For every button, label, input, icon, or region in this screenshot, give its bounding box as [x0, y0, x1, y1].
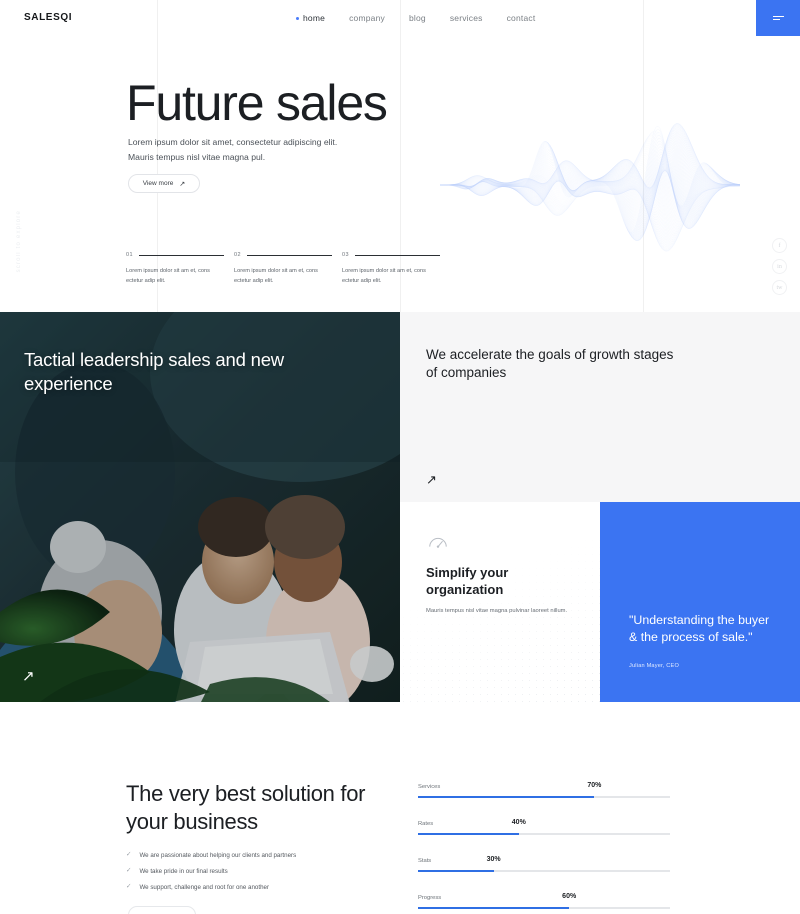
check-icon: ✓ [126, 852, 131, 859]
progress-bar-value: 40% [512, 819, 526, 826]
quote-author: Julian Mayer, CEO [629, 663, 679, 669]
feature-text: Lorem ipsum dolor sit am et, cons ectetu… [342, 266, 436, 287]
feature-item: 03 Lorem ipsum dolor sit am et, cons ect… [342, 252, 450, 287]
feature-rule [139, 255, 224, 256]
list-item: ✓ We are passionate about helping our cl… [126, 852, 296, 859]
progress-bar-chart: Services70%Rates40%Stats30%Progress60%In… [418, 784, 670, 914]
logo[interactable]: SALESQI [24, 12, 72, 23]
progress-bar-fill [418, 833, 519, 835]
feature-number: 02 [234, 252, 241, 258]
hero-subtitle: Lorem ipsum dolor sit amet, consectetur … [128, 135, 358, 165]
checklist-label: We are passionate about helping our clie… [139, 852, 296, 859]
progress-bar-value: 60% [562, 893, 576, 900]
page-title: Future sales [126, 78, 387, 128]
progress-bar-row: Progress60% [418, 895, 670, 911]
quote-text: "Understanding the buyer & the process o… [629, 612, 774, 647]
list-item: ✓ We support, challenge and root for one… [126, 884, 296, 891]
gauge-icon [427, 532, 449, 554]
feature-rule [355, 255, 440, 256]
feature-number: 01 [126, 252, 133, 258]
hamburger-line [773, 16, 784, 17]
view-more-button[interactable]: View more ↗ [128, 174, 200, 193]
checklist: ✓ We are passionate about helping our cl… [126, 852, 296, 891]
nav-item-contact[interactable]: contact [507, 13, 536, 23]
feature-item: 01 Lorem ipsum dolor sit am et, cons ect… [126, 252, 234, 287]
feature-text: Lorem ipsum dolor sit am et, cons ectetu… [234, 266, 328, 287]
social-facebook-icon[interactable]: f [772, 238, 787, 253]
main-nav: home company blog services contact [296, 13, 535, 23]
quote-panel: "Understanding the buyer & the process o… [600, 502, 800, 702]
progress-bar-value: 70% [587, 782, 601, 789]
progress-bar-fill [418, 796, 594, 798]
arrow-up-right-icon: ↗ [179, 180, 185, 188]
progress-bar-row: Services70% [418, 784, 670, 800]
nav-item-blog[interactable]: blog [409, 13, 426, 23]
landing-page: Future sales Lorem ipsum dolor sit amet,… [0, 0, 800, 914]
progress-bar-track [418, 833, 670, 835]
accelerate-title: We accelerate the goals of growth stages… [426, 346, 686, 382]
feature-rule [247, 255, 332, 256]
bottom-title: The very best solution for your business [126, 780, 396, 836]
wave-graphic [440, 55, 740, 310]
side-vertical-text: scroll to explore [16, 210, 22, 272]
site-header: SALESQI home company blog services conta… [0, 0, 800, 36]
feature-item: 02 Lorem ipsum dolor sit am et, cons ect… [234, 252, 342, 287]
accelerate-panel: We accelerate the goals of growth stages… [400, 312, 800, 502]
nav-item-home[interactable]: home [296, 13, 325, 23]
social-twitter-icon[interactable]: tw [772, 280, 787, 295]
simplify-text: Mauris tempus nisl vitae magna pulvinar … [426, 606, 576, 617]
progress-bar-track [418, 907, 670, 909]
feature-list: 01 Lorem ipsum dolor sit am et, cons ect… [126, 252, 450, 287]
hamburger-icon[interactable] [756, 0, 800, 36]
progress-bar-label: Rates [418, 821, 433, 827]
team-photo-card: Tactial leadership sales and new experie… [0, 312, 400, 702]
arrow-up-right-icon[interactable]: ↗ [22, 669, 35, 684]
progress-bar-value: 30% [487, 856, 501, 863]
hero-section: Future sales Lorem ipsum dolor sit amet,… [0, 0, 800, 310]
progress-bar-label: Stats [418, 858, 431, 864]
checklist-label: We take pride in our final results [139, 868, 227, 875]
progress-bar-row: Stats30% [418, 858, 670, 874]
progress-bar-label: Progress [418, 895, 441, 901]
mid-section: Tactial leadership sales and new experie… [0, 312, 800, 702]
social-links: f in tw [772, 238, 787, 295]
arrow-up-right-icon[interactable]: ↗ [426, 472, 437, 488]
progress-bar-track [418, 870, 670, 872]
simplify-panel: Simplify your organization Mauris tempus… [400, 502, 600, 702]
bottom-cta-button[interactable] [128, 906, 196, 914]
feature-number: 03 [342, 252, 349, 258]
progress-bar-row: Rates40% [418, 821, 670, 837]
checklist-label: We support, challenge and root for one a… [139, 884, 269, 891]
photo-card-title: Tactial leadership sales and new experie… [24, 348, 294, 395]
nav-item-services[interactable]: services [450, 13, 483, 23]
simplify-title: Simplify your organization [426, 564, 576, 598]
social-linkedin-icon[interactable]: in [772, 259, 787, 274]
bottom-section: The very best solution for your business… [0, 702, 800, 914]
progress-bar-track [418, 796, 670, 798]
check-icon: ✓ [126, 868, 131, 875]
progress-bar-fill [418, 870, 494, 872]
list-item: ✓ We take pride in our final results [126, 868, 296, 875]
hamburger-line [773, 19, 780, 20]
progress-bar-label: Services [418, 784, 440, 790]
nav-item-company[interactable]: company [349, 13, 385, 23]
check-icon: ✓ [126, 884, 131, 891]
progress-bar-fill [418, 907, 569, 909]
feature-text: Lorem ipsum dolor sit am et, cons ectetu… [126, 266, 220, 287]
view-more-label: View more [143, 180, 174, 187]
